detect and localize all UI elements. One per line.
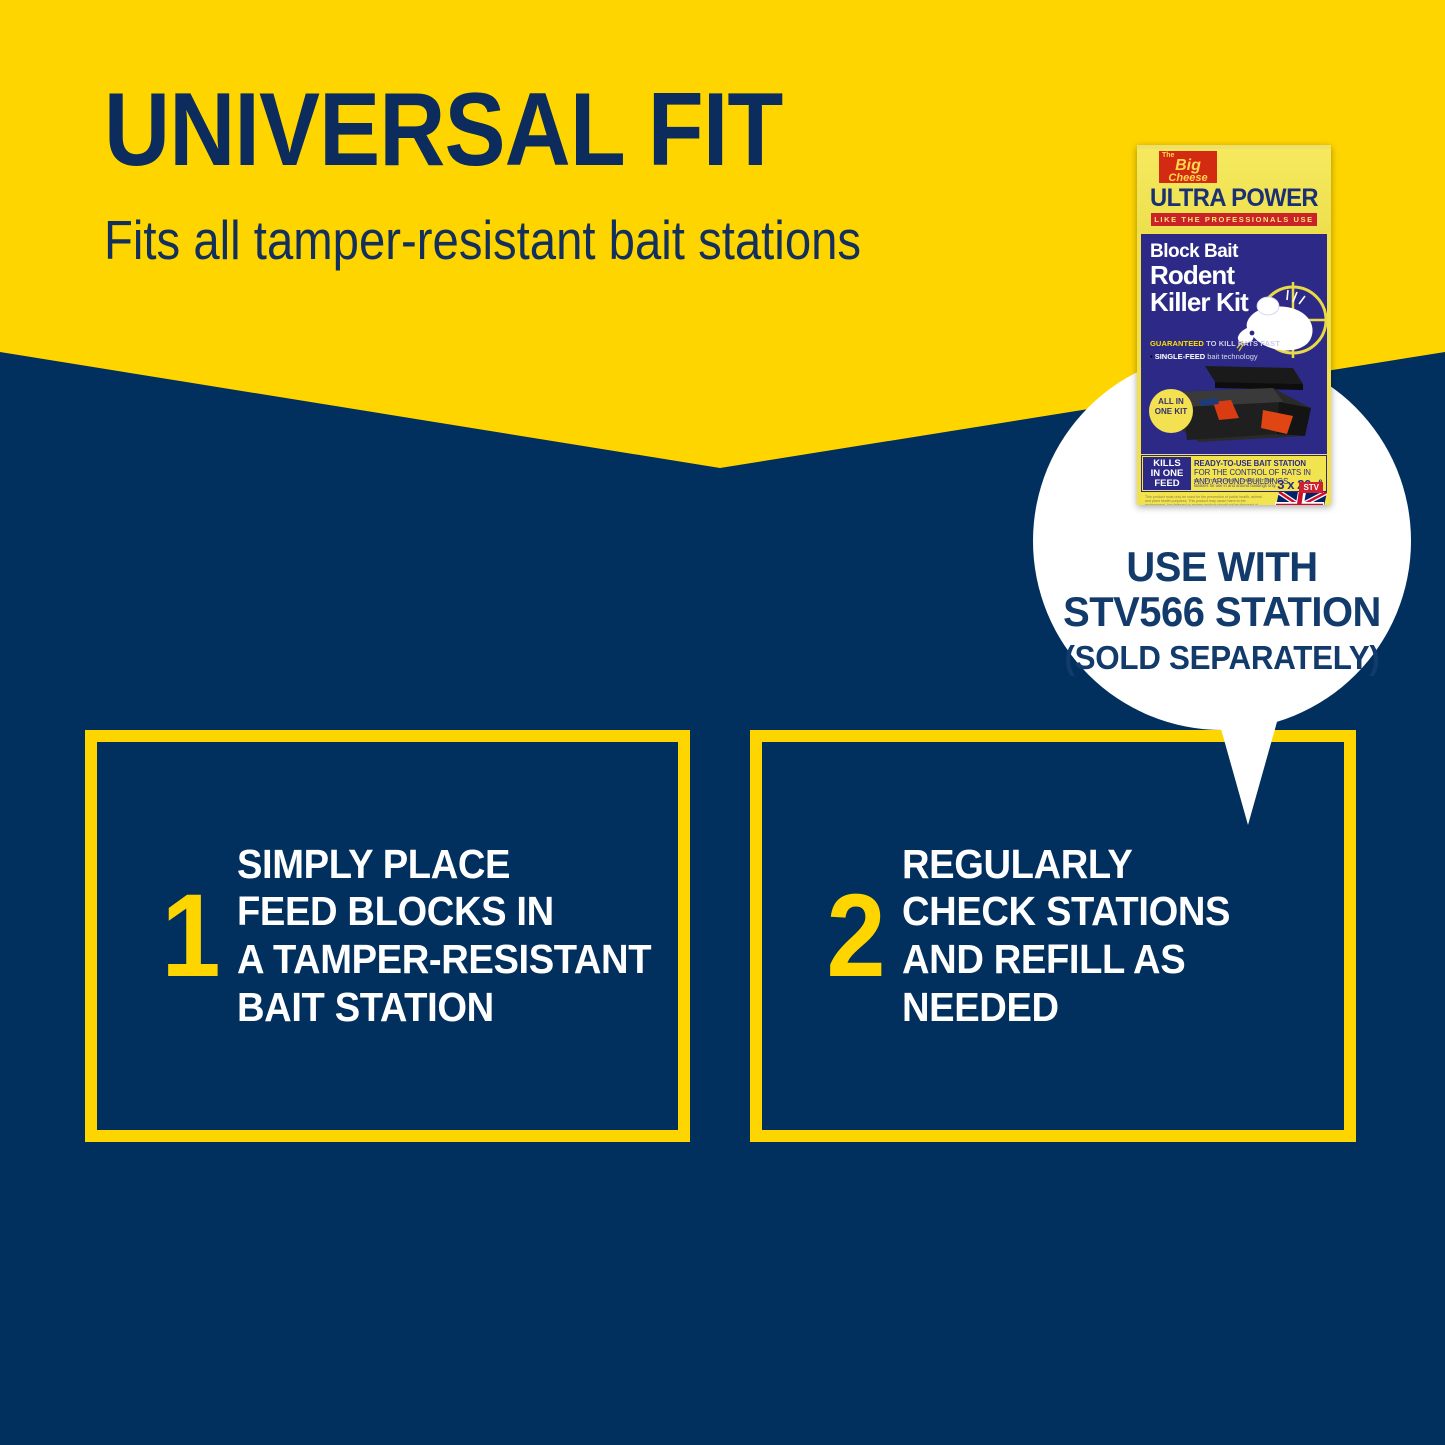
infographic-canvas: UNIVERSAL FIT Fits all tamper-resistant … [0, 0, 1445, 1445]
product-title-small: Block Bait [1150, 241, 1248, 262]
step1-line-4: BAIT STATION [237, 984, 651, 1032]
bubble-line-2: STV566 STATION [1042, 590, 1401, 635]
product-package-image: The Big Cheese ULTRA POWER LIKE THE PROF… [1137, 145, 1331, 505]
package-legal-text: This product must only be used for the p… [1145, 495, 1265, 505]
speech-bubble-text: USE WITH STV566 STATION (SOLD SEPARATELY… [1033, 545, 1411, 676]
all-in-one-badge: ALL IN ONE KIT [1149, 389, 1193, 433]
range-name: ULTRA POWER [1148, 184, 1321, 213]
single-feed-rest: bait technology [1205, 352, 1258, 361]
union-jack-flag-icon [1273, 492, 1327, 505]
step1-line-2: FEED BLOCKS IN [237, 888, 651, 936]
package-small-print: PBA BAITED STATION, COMPLIANT. Bait stat… [1194, 478, 1280, 488]
single-feed-text: • SINGLE-FEED bait technology [1150, 352, 1258, 361]
kills-in-one-feed-badge: KILLS IN ONE FEED [1143, 457, 1191, 490]
step1-line-3: A TAMPER-RESISTANT [237, 936, 651, 984]
bubble-line-3: (SOLD SEPARATELY) [1042, 641, 1401, 676]
step-content-1: 1 SIMPLY PLACE FEED BLOCKS IN A TAMPER-R… [145, 730, 675, 1142]
guarantee-bold: GUARANTEED [1150, 339, 1204, 348]
step2-line-4: NEEDED [902, 984, 1309, 1032]
guarantee-text: GUARANTEED TO KILL RATS FAST [1150, 339, 1280, 348]
step-number-2: 2 [815, 877, 898, 995]
product-title-line-2: Killer Kit [1150, 289, 1248, 316]
step-text-2: REGULARLY CHECK STATIONS AND REFILL AS N… [902, 841, 1309, 1031]
big-cheese-logo: The Big Cheese [1159, 151, 1217, 183]
step2-line-3: AND REFILL AS [902, 936, 1309, 984]
product-title-line-1: Rodent [1150, 262, 1248, 289]
ready-bold: READY-TO-USE BAIT STATION [1194, 459, 1306, 468]
single-feed-bold: SINGLE-FEED [1155, 352, 1205, 361]
pack-tagline: LIKE THE PROFESSIONALS USE [1151, 213, 1317, 226]
package-main-panel: Block Bait Rodent Killer Kit GUARANTEED … [1141, 234, 1327, 454]
step2-line-1: REGULARLY [902, 841, 1309, 889]
bubble-line-1: USE WITH [1042, 545, 1401, 590]
step-number-1: 1 [150, 877, 233, 995]
product-title: Block Bait Rodent Killer Kit [1150, 241, 1248, 316]
page-subtitle: Fits all tamper-resistant bait stations [104, 212, 861, 270]
kills-line-3: FEED [1143, 479, 1191, 489]
step1-line-1: SIMPLY PLACE [237, 841, 651, 889]
page-title: UNIVERSAL FIT [104, 78, 782, 182]
brand-line-2: Cheese [1159, 173, 1217, 183]
step2-line-2: CHECK STATIONS [902, 888, 1309, 936]
stv-logo: STV [1299, 482, 1323, 493]
guarantee-rest: TO KILL RATS FAST [1204, 339, 1280, 348]
step-text-1: SIMPLY PLACE FEED BLOCKS IN A TAMPER-RES… [237, 841, 651, 1031]
